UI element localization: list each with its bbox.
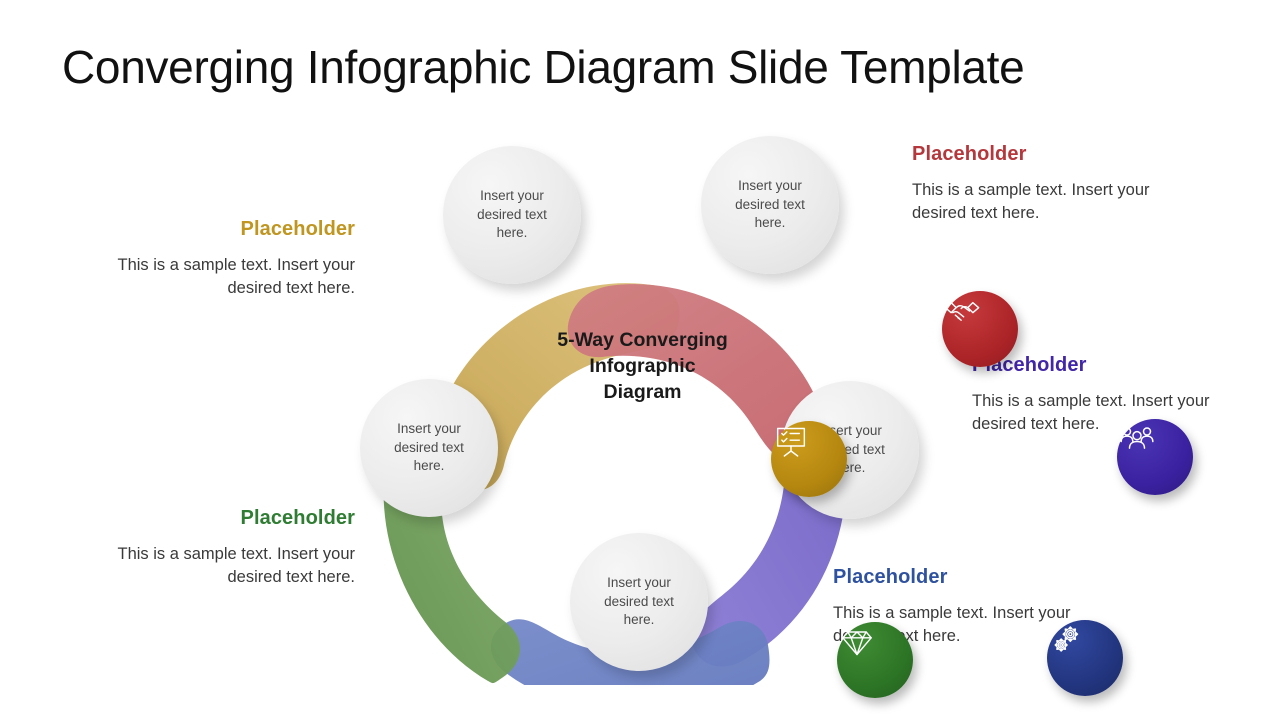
placeholder-block-purple: Placeholder This is a sample text. Inser… <box>972 354 1217 437</box>
segment-icon-green[interactable] <box>837 622 913 698</box>
segment-icon-purple[interactable] <box>1117 419 1193 495</box>
placeholder-heading: Placeholder <box>82 507 355 530</box>
placeholder-block-gold: Placeholder This is a sample text. Inser… <box>82 218 355 301</box>
segment-icon-gold[interactable] <box>771 421 847 497</box>
note-text: Insert your desired text here. <box>587 574 691 630</box>
slide-canvas: Converging Infographic Diagram Slide Tem… <box>0 0 1280 720</box>
placeholder-body: This is a sample text. Insert your desir… <box>82 254 355 301</box>
note-text: Insert your desired text here. <box>377 420 481 476</box>
placeholder-body: This is a sample text. Insert your desir… <box>912 179 1162 226</box>
segment-icon-red[interactable] <box>942 291 1018 367</box>
note-bubble[interactable]: Insert your desired text here. <box>701 136 839 274</box>
placeholder-heading: Placeholder <box>833 566 1073 589</box>
note-bubble[interactable]: Insert your desired text here. <box>360 379 498 517</box>
placeholder-body: This is a sample text. Insert your desir… <box>82 543 355 590</box>
page-title: Converging Infographic Diagram Slide Tem… <box>62 40 1024 94</box>
note-bubble[interactable]: Insert your desired text here. <box>443 146 581 284</box>
note-text: Insert your desired text here. <box>460 187 564 243</box>
placeholder-block-red: Placeholder This is a sample text. Inser… <box>912 143 1162 226</box>
note-text: Insert your desired text here. <box>718 177 822 233</box>
placeholder-heading: Placeholder <box>82 218 355 241</box>
note-bubble[interactable]: Insert your desired text here. <box>570 533 708 671</box>
segment-icon-blue[interactable] <box>1047 620 1123 696</box>
placeholder-block-green: Placeholder This is a sample text. Inser… <box>82 507 355 590</box>
placeholder-heading: Placeholder <box>972 354 1217 377</box>
placeholder-heading: Placeholder <box>912 143 1162 166</box>
